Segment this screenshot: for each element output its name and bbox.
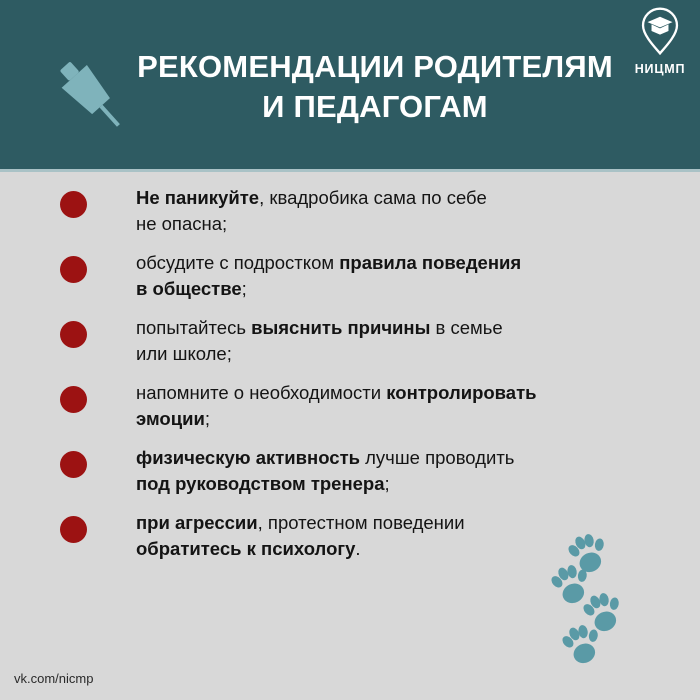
bullet-dot-icon [60, 386, 87, 413]
list-item-text: физическую активность лучше проводитьпод… [136, 437, 646, 497]
page-title: РЕКОМЕНДАЦИИ РОДИТЕЛЯМ И ПЕДАГОГАМ [125, 47, 625, 127]
header-divider [0, 169, 700, 172]
bullet-dot-icon [60, 256, 87, 283]
footer-link[interactable]: vk.com/nicmp [14, 671, 93, 686]
list-item-text: при агрессии, протестном поведенииобрати… [136, 502, 646, 562]
organization-logo-text: НИЦМП [628, 62, 692, 76]
bullet-dot-icon [60, 451, 87, 478]
list-item-text: Не паникуйте, квадробика сама по себене … [136, 177, 646, 237]
list-item: физическую активность лучше проводитьпод… [0, 437, 700, 502]
list-item: попытайтесь выяснить причины в семьеили … [0, 307, 700, 372]
bullet-dot-icon [60, 191, 87, 218]
pushpin-icon [48, 52, 134, 138]
graduation-cap-map-pin-icon [628, 6, 692, 61]
list-item: при агрессии, протестном поведенииобрати… [0, 502, 700, 567]
list-item-text: попытайтесь выяснить причины в семьеили … [136, 307, 646, 367]
list-item: Не паникуйте, квадробика сама по себене … [0, 177, 700, 242]
list-item: напомните о необходимости контролировать… [0, 372, 700, 437]
page-title-line-2: И ПЕДАГОГАМ [125, 87, 625, 127]
recommendations-list: Не паникуйте, квадробика сама по себене … [0, 177, 700, 567]
organization-logo: НИЦМП [628, 6, 692, 76]
list-item: обсудите с подростком правила поведенияв… [0, 242, 700, 307]
page-title-line-1: РЕКОМЕНДАЦИИ РОДИТЕЛЯМ [125, 47, 625, 87]
header-banner: РЕКОМЕНДАЦИИ РОДИТЕЛЯМ И ПЕДАГОГАМ НИЦМП [0, 0, 700, 169]
list-item-text: напомните о необходимости контролировать… [136, 372, 646, 432]
list-item-text: обсудите с подростком правила поведенияв… [136, 242, 646, 302]
bullet-dot-icon [60, 321, 87, 348]
bullet-dot-icon [60, 516, 87, 543]
